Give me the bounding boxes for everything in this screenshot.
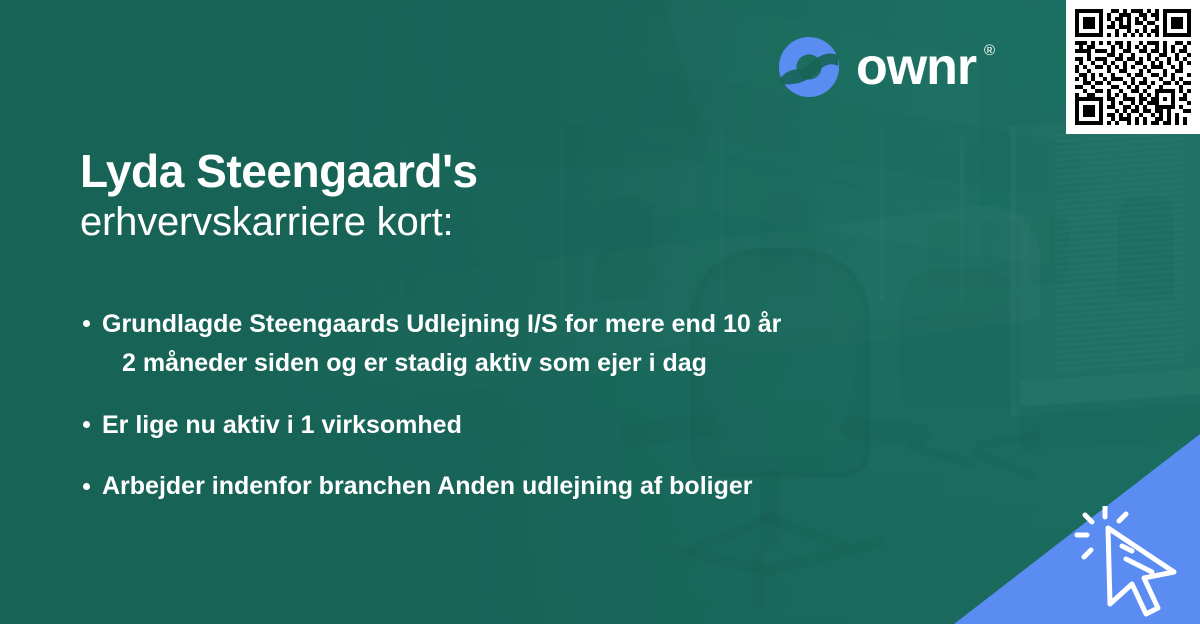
page-subtitle: erhvervskarriere kort: [80, 201, 900, 243]
ownr-circle-logo-icon [778, 36, 840, 98]
qr-code-icon [1075, 9, 1191, 125]
fact-line-1: Arbejder indenfor branchen Anden udlejni… [102, 472, 753, 500]
fact-line-1: Grundlagde Steengaards Udlejning I/S for… [102, 310, 781, 338]
fact-line-2: 2 måneder siden og er stadig aktiv som e… [102, 344, 900, 384]
ownr-wordmark: ownr ® [856, 41, 976, 93]
bullet-icon [83, 483, 90, 490]
bullet-icon [83, 320, 90, 327]
career-summary-content: Lyda Steengaard's erhvervskarriere kort:… [80, 148, 900, 507]
list-item: Er lige nu aktiv i 1 virksomhed [80, 406, 900, 446]
registered-trademark-symbol: ® [984, 43, 994, 58]
list-item: Grundlagde Steengaards Udlejning I/S for… [80, 305, 900, 384]
ownr-wordmark-text: ownr [856, 38, 976, 96]
click-cursor-icon [1074, 506, 1192, 618]
fact-line-1: Er lige nu aktiv i 1 virksomhed [102, 411, 462, 439]
list-item: Arbejder indenfor branchen Anden udlejni… [80, 467, 900, 507]
qr-code[interactable] [1066, 0, 1200, 134]
bullet-icon [83, 421, 90, 428]
page-title: Lyda Steengaard's [80, 148, 900, 195]
ownr-logo[interactable]: ownr ® [778, 36, 976, 98]
business-card-banner: ownr ® [0, 0, 1200, 624]
career-facts-list: Grundlagde Steengaards Udlejning I/S for… [80, 305, 900, 507]
